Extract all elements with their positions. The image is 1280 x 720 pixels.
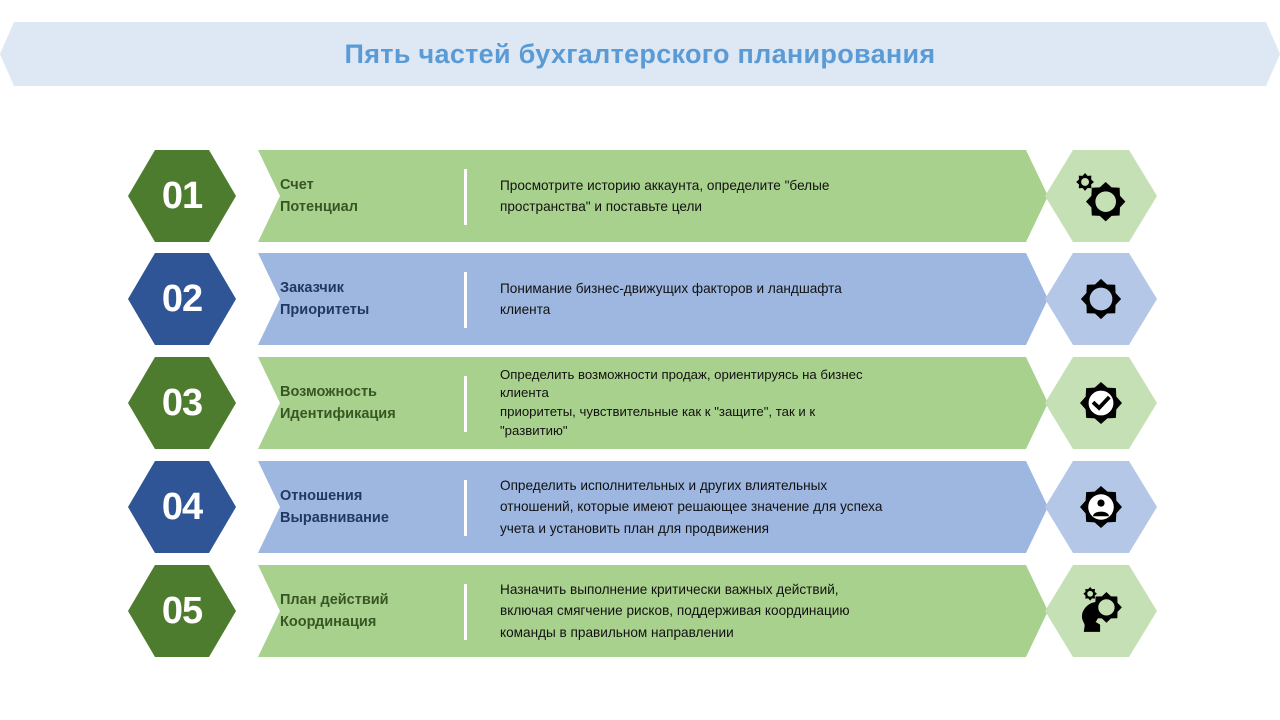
step-description: Определить исполнительных и других влият…: [500, 461, 1010, 553]
slide-canvas: Пять частей бухгалтерского планирования …: [0, 0, 1280, 720]
process-row[interactable]: 02ЗаказчикПриоритетыПонимание бизнес-дви…: [0, 253, 1280, 345]
page-title: Пять частей бухгалтерского планирования: [345, 39, 936, 70]
step-title: План действийКоординация: [280, 565, 476, 657]
step-title-line: Возможность: [280, 381, 476, 403]
step-number: 05: [162, 592, 202, 630]
gear-check-icon: [1073, 375, 1129, 431]
step-description-line: команды в правильном направлении: [500, 622, 1010, 643]
step-description-line: Определить возможности продаж, ориентиру…: [500, 366, 1010, 385]
step-bar[interactable]: План действийКоординацияНазначить выполн…: [258, 565, 1048, 657]
step-title-line: План действий: [280, 589, 476, 611]
step-description-line: клиента: [500, 384, 1010, 403]
step-number-hexagon[interactable]: 01: [128, 150, 236, 242]
step-title-line: Идентификация: [280, 403, 476, 425]
step-icon-hexagon[interactable]: [1045, 565, 1157, 657]
step-title-line: Координация: [280, 611, 476, 633]
step-number-hexagon[interactable]: 02: [128, 253, 236, 345]
step-bar[interactable]: ВозможностьИдентификацияОпределить возмо…: [258, 357, 1048, 449]
step-bar[interactable]: СчетПотенциалПросмотрите историю аккаунт…: [258, 150, 1048, 242]
step-description-line: Определить исполнительных и других влият…: [500, 475, 1010, 496]
step-title-line: Потенциал: [280, 196, 476, 218]
step-icon-hexagon[interactable]: [1045, 253, 1157, 345]
step-description-line: Просмотрите историю аккаунта, определите…: [500, 175, 1010, 196]
vertical-divider: [464, 584, 467, 640]
step-description-line: включая смягчение рисков, поддерживая ко…: [500, 600, 1010, 621]
step-icon-hexagon[interactable]: [1045, 150, 1157, 242]
vertical-divider: [464, 376, 467, 432]
step-title: ЗаказчикПриоритеты: [280, 253, 476, 345]
step-number: 03: [162, 384, 202, 422]
process-row[interactable]: 03ВозможностьИдентификацияОпределить воз…: [0, 357, 1280, 449]
step-description-line: приоритеты, чувствительные как к "защите…: [500, 403, 1010, 422]
step-icon-hexagon[interactable]: [1045, 461, 1157, 553]
step-title-line: Выравнивание: [280, 507, 476, 529]
step-number-hexagon[interactable]: 05: [128, 565, 236, 657]
step-description-line: клиента: [500, 299, 1010, 320]
gear-icon: [1073, 271, 1129, 327]
step-number-hexagon[interactable]: 04: [128, 461, 236, 553]
process-row[interactable]: 05План действийКоординацияНазначить выпо…: [0, 565, 1280, 657]
step-description: Понимание бизнес-движущих факторов и лан…: [500, 253, 1010, 345]
step-description: Просмотрите историю аккаунта, определите…: [500, 150, 1010, 242]
step-description: Определить возможности продаж, ориентиру…: [500, 357, 1010, 449]
step-number-hexagon[interactable]: 03: [128, 357, 236, 449]
step-title-line: Приоритеты: [280, 299, 476, 321]
step-description-line: отношений, которые имеют решающее значен…: [500, 496, 1010, 517]
step-title: ОтношенияВыравнивание: [280, 461, 476, 553]
step-title-line: Отношения: [280, 485, 476, 507]
step-number: 01: [162, 177, 202, 215]
step-number: 02: [162, 280, 202, 318]
step-title: СчетПотенциал: [280, 150, 476, 242]
step-title: ВозможностьИдентификация: [280, 357, 476, 449]
step-title-line: Счет: [280, 174, 476, 196]
step-icon-hexagon[interactable]: [1045, 357, 1157, 449]
step-description-line: Назначить выполнение критически важных д…: [500, 579, 1010, 600]
step-title-line: Заказчик: [280, 277, 476, 299]
head-gears-icon: [1072, 582, 1130, 640]
step-bar[interactable]: ЗаказчикПриоритетыПонимание бизнес-движу…: [258, 253, 1048, 345]
process-row[interactable]: 01СчетПотенциалПросмотрите историю аккау…: [0, 150, 1280, 242]
vertical-divider: [464, 272, 467, 328]
vertical-divider: [464, 169, 467, 225]
step-description-line: учета и установить план для продвижения: [500, 518, 1010, 539]
step-description-line: Понимание бизнес-движущих факторов и лан…: [500, 278, 1010, 299]
process-row[interactable]: 04ОтношенияВыравниваниеОпределить исполн…: [0, 461, 1280, 553]
step-number: 04: [162, 488, 202, 526]
two-gears-icon: [1071, 166, 1131, 226]
step-description-line: пространства" и поставьте цели: [500, 196, 1010, 217]
step-bar[interactable]: ОтношенияВыравниваниеОпределить исполнит…: [258, 461, 1048, 553]
vertical-divider: [464, 480, 467, 536]
gear-person-icon: [1073, 479, 1129, 535]
step-description-line: "развитию": [500, 422, 1010, 441]
title-banner: Пять частей бухгалтерского планирования: [0, 22, 1280, 86]
step-description: Назначить выполнение критически важных д…: [500, 565, 1010, 657]
